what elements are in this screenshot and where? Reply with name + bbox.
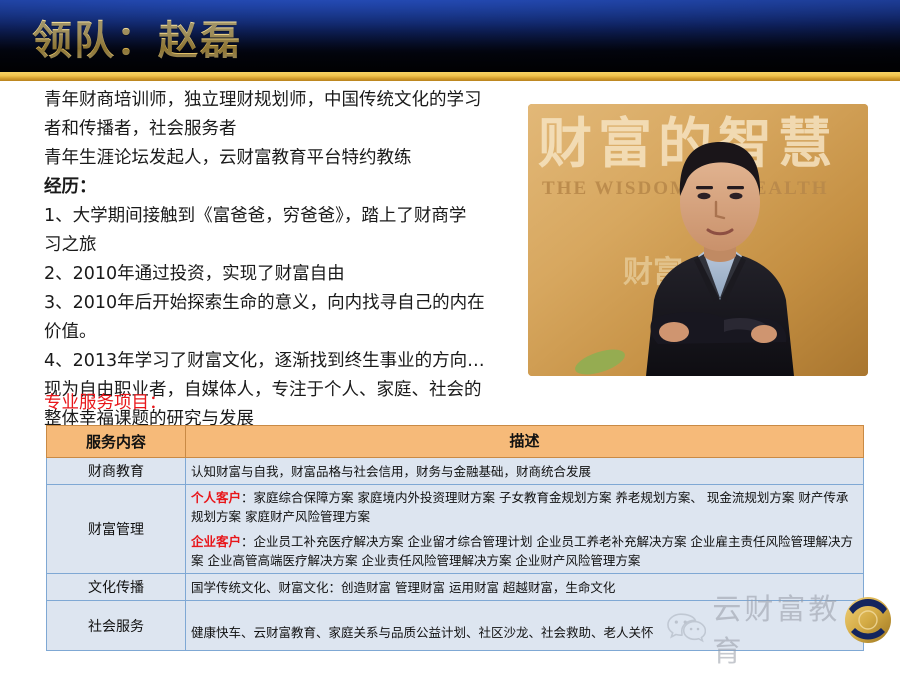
experience-item-1: 1、大学期间接触到《富爸爸，穷爸爸》，踏上了财商学 xyxy=(44,202,514,231)
desc-sub-personal: 个人客户：家庭综合保障方案 家庭境内外投资理财方案 子女教育金规划方案 养老规划… xyxy=(191,488,858,526)
cell-service-name: 文化传播 xyxy=(47,574,186,601)
table-row: 财富管理 个人客户：家庭综合保障方案 家庭境内外投资理财方案 子女教育金规划方案… xyxy=(47,485,864,530)
cell-service-description: 国学传统文化、财富文化：创造财富 管理财富 运用财富 超越财富，生命文化 xyxy=(186,574,864,601)
experience-item-2: 2、2010年通过投资，实现了财富自由 xyxy=(44,260,514,289)
cell-service-name: 财富管理 xyxy=(47,485,186,574)
bio-line-1: 青年财商培训师，独立理财规划师，中国传统文化的学习 xyxy=(44,86,514,115)
experience-item-3: 3、2010年后开始探索生命的意义，向内找寻自己的内在 xyxy=(44,289,514,318)
cell-service-name: 财商教育 xyxy=(47,458,186,485)
seal-badge-icon xyxy=(845,592,891,648)
cell-service-name: 社会服务 xyxy=(47,601,186,651)
desc-sub-enterprise: 企业客户：企业员工补充医疗解决方案 企业留才综合管理计划 企业员工养老补充解决方… xyxy=(191,532,858,570)
header-banner: 领队：赵磊 xyxy=(0,0,900,72)
table-header-row: 服务内容 描述 xyxy=(47,426,864,458)
portrait-photo: 财富的智慧 THE WISDOM OF WEALTH 财富 xyxy=(528,104,868,376)
column-header-description: 描述 xyxy=(186,426,864,458)
table-row: 文化传播 国学传统文化、财富文化：创造财富 管理财富 运用财富 超越财富，生命文… xyxy=(47,574,864,601)
cell-service-description: 个人客户：家庭综合保障方案 家庭境内外投资理财方案 子女教育金规划方案 养老规划… xyxy=(186,485,864,530)
table-row: 社会服务 健康快车、云财富教育、家庭关系与品质公益计划、社区沙龙、社会救助、老人… xyxy=(47,601,864,651)
page-title: 领队：赵磊 xyxy=(32,8,242,66)
bio-line-3: 青年生涯论坛发起人，云财富教育平台特约教练 xyxy=(44,144,514,173)
table-row: 财商教育 认知财富与自我，财富品格与社会信用，财务与金融基础，财商统合发展 xyxy=(47,458,864,485)
portrait-photo-graphic: 财富的智慧 THE WISDOM OF WEALTH 财富 xyxy=(528,104,868,376)
experience-label: 经历： xyxy=(44,173,514,202)
tag-personal-client: 个人客户 xyxy=(191,490,241,505)
bio-text-block: 青年财商培训师，独立理财规划师，中国传统文化的学习 者和传播者，社会服务者 青年… xyxy=(44,86,514,434)
experience-item-1-cont: 习之旅 xyxy=(44,231,514,260)
desc-enterprise-text: ：企业员工补充医疗解决方案 企业留才综合管理计划 企业员工养老补充解决方案 企业… xyxy=(191,534,853,568)
experience-item-4: 4、2013年学习了财富文化，逐渐找到终生事业的方向… xyxy=(44,347,514,376)
experience-item-3-cont: 价值。 xyxy=(44,318,514,347)
cell-service-description: 企业客户：企业员工补充医疗解决方案 企业留才综合管理计划 企业员工养老补充解决方… xyxy=(186,529,864,574)
cell-service-description: 认知财富与自我，财富品格与社会信用，财务与金融基础，财商统合发展 xyxy=(186,458,864,485)
gold-divider-bar xyxy=(0,72,900,81)
section-label-services: 专业服务项目： xyxy=(44,391,167,415)
cell-service-description: 健康快车、云财富教育、家庭关系与品质公益计划、社区沙龙、社会救助、老人关怀 xyxy=(186,601,864,651)
slide: 领队：赵磊 青年财商培训师，独立理财规划师，中国传统文化的学习 者和传播者，社会… xyxy=(0,0,900,675)
bio-line-2: 者和传播者，社会服务者 xyxy=(44,115,514,144)
desc-personal-text: ：家庭综合保障方案 家庭境内外投资理财方案 子女教育金规划方案 养老规划方案、 … xyxy=(191,490,848,524)
column-header-service: 服务内容 xyxy=(47,426,186,458)
tag-enterprise-client: 企业客户 xyxy=(191,534,241,549)
services-table: 服务内容 描述 财商教育 认知财富与自我，财富品格与社会信用，财务与金融基础，财… xyxy=(46,425,864,651)
